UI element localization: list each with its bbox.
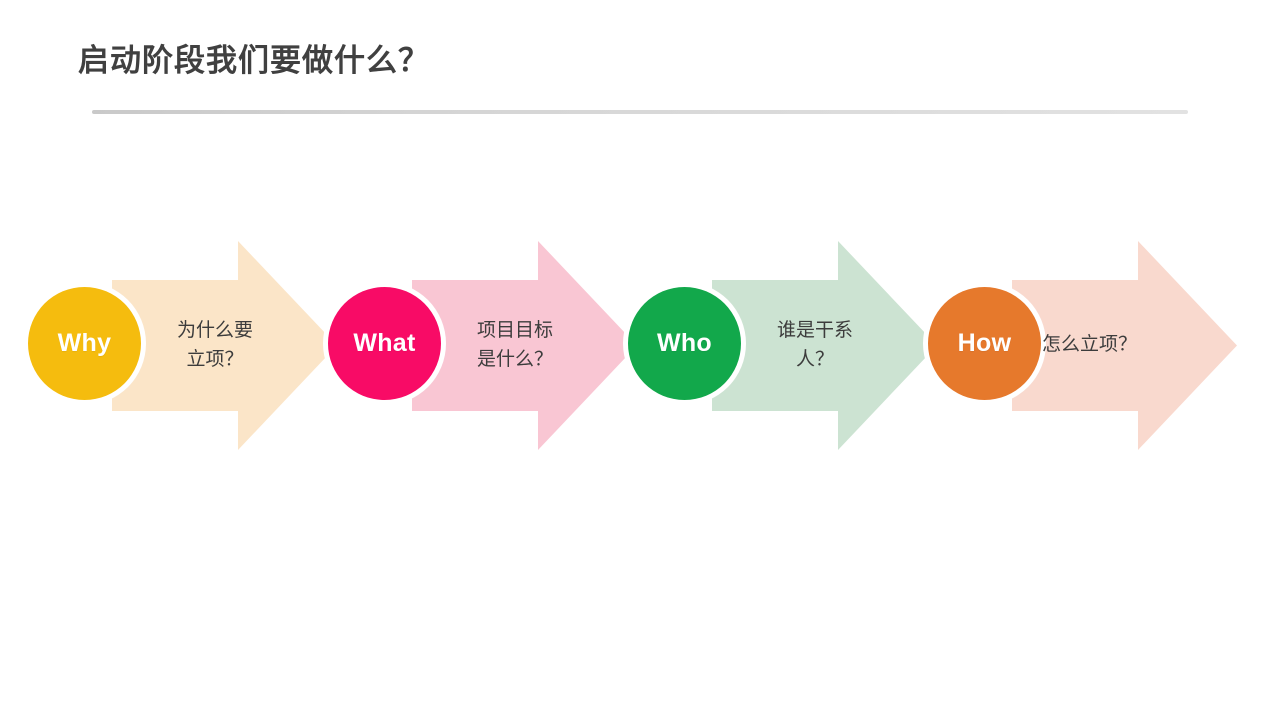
flow-step-why[interactable]: Why 为什么要 立项？ [20, 225, 340, 465]
title-divider [92, 110, 1188, 114]
caption-how: 怎么立项？ [1042, 225, 1192, 465]
caption-line: 谁是干系 [777, 316, 853, 345]
badge-why[interactable]: Why [28, 287, 141, 400]
caption-line: 是什么？ [477, 345, 553, 374]
badge-label-how: How [958, 331, 1012, 356]
caption-line: 怎么立项？ [1042, 330, 1137, 359]
caption-why: 为什么要 立项？ [150, 225, 280, 465]
flow-step-how[interactable]: How 怎么立项？ [920, 225, 1240, 465]
caption-line: 人？ [796, 345, 834, 374]
flow-step-who[interactable]: Who 谁是干系 人？ [620, 225, 940, 465]
caption-line: 为什么要 [177, 316, 253, 345]
badge-what[interactable]: What [328, 287, 441, 400]
badge-how[interactable]: How [928, 287, 1041, 400]
caption-line: 立项？ [186, 345, 243, 374]
badge-label-why: Why [58, 331, 112, 356]
caption-what: 项目目标 是什么？ [450, 225, 580, 465]
caption-line: 项目目标 [477, 316, 553, 345]
caption-who: 谁是干系 人？ [750, 225, 880, 465]
badge-label-who: Who [657, 331, 712, 356]
slide-canvas: 启动阶段我们要做什么？ Why 为什么要 立项？ [0, 0, 1280, 721]
process-flow: Why 为什么要 立项？ What 项目目标 是什么？ [0, 225, 1280, 465]
badge-label-what: What [353, 331, 415, 356]
flow-step-what[interactable]: What 项目目标 是什么？ [320, 225, 640, 465]
badge-who[interactable]: Who [628, 287, 741, 400]
page-title: 启动阶段我们要做什么？ [78, 42, 430, 79]
